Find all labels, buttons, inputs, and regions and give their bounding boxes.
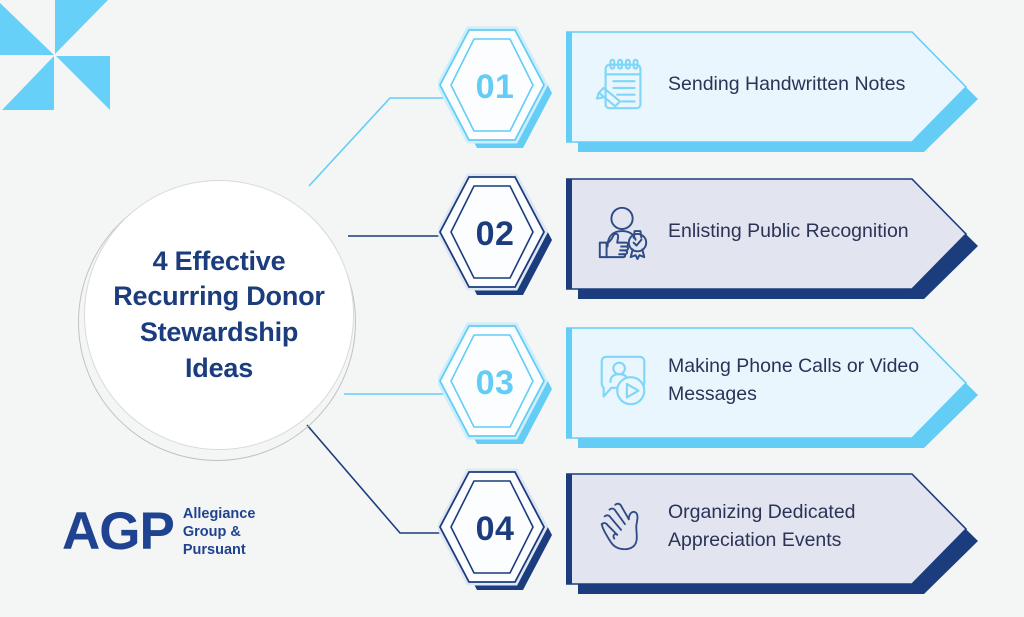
step-number: 02	[438, 173, 552, 295]
step-title: Organizing Dedicated Appreciation Events	[668, 499, 938, 554]
infographic-canvas: 4 Effective Recurring Donor Stewardship …	[0, 0, 1024, 617]
step-number: 01	[438, 26, 552, 148]
list-item[interactable]: 01	[0, 22, 1024, 162]
logo-line-2: Group &	[183, 524, 256, 542]
notepad-pencil-icon	[594, 56, 652, 114]
list-item[interactable]: 03 Making Phone Calls or Vid	[0, 318, 1024, 458]
step-banner-01[interactable]: Sending Handwritten Notes	[566, 30, 978, 152]
step-title: Enlisting Public Recognition	[668, 218, 909, 246]
step-banner-04[interactable]: Organizing Dedicated Appreciation Events	[566, 472, 978, 594]
step-number: 04	[438, 468, 552, 590]
step-title: Sending Handwritten Notes	[668, 71, 905, 99]
logo-line-3: Pursuant	[183, 542, 256, 560]
step-hexagon-04[interactable]: 04	[438, 468, 562, 600]
step-hexagon-01[interactable]: 01	[438, 26, 562, 158]
logo-line-1: Allegiance	[183, 506, 256, 524]
step-banner-03[interactable]: Making Phone Calls or Video Messages	[566, 326, 978, 448]
step-title: Making Phone Calls or Video Messages	[668, 353, 938, 408]
step-hexagon-02[interactable]: 02	[438, 173, 562, 305]
step-number: 03	[438, 322, 552, 444]
step-hexagon-03[interactable]: 03	[438, 322, 562, 454]
logo-wordmark: Allegiance Group & Pursuant	[183, 503, 256, 560]
person-thumbs-up-award-icon	[594, 203, 652, 261]
step-banner-02[interactable]: Enlisting Public Recognition	[566, 177, 978, 299]
agp-logo: AGP Allegiance Group & Pursuant	[62, 503, 255, 560]
clapping-hands-icon	[594, 498, 652, 556]
logo-mark: AGP	[62, 505, 174, 558]
list-item[interactable]: 02	[0, 169, 1024, 309]
chat-bubble-video-play-icon	[594, 352, 652, 410]
